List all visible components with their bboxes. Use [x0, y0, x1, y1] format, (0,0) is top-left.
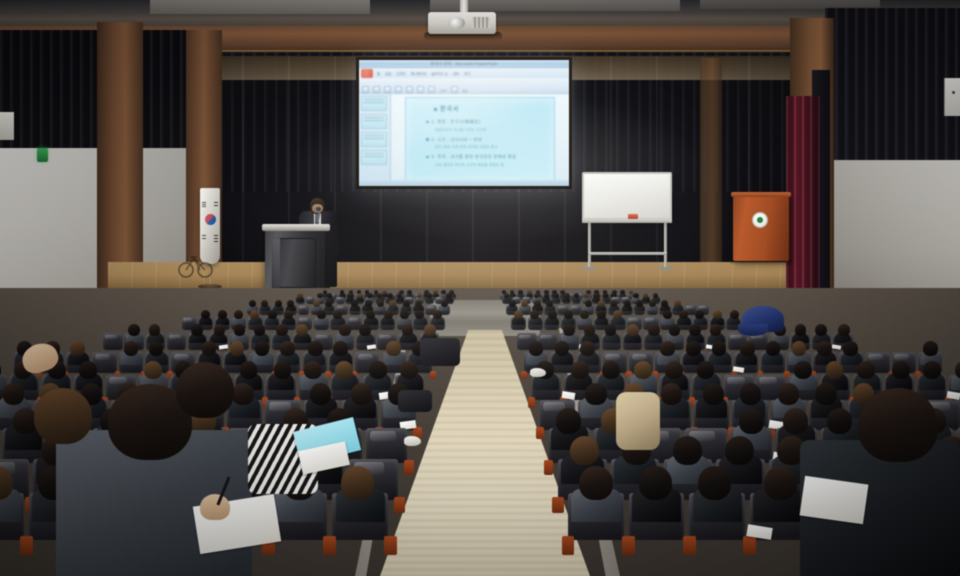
slide-thumbnail[interactable]: [361, 132, 387, 147]
audience-member-head: [584, 324, 596, 336]
seat-back-gloss: [727, 377, 745, 385]
audience-member-head: [612, 290, 617, 295]
slide-bullet-main: 3. 목적 : 과거를 통한 한국인의 정체성 확립: [426, 154, 546, 160]
audience-member-head: [202, 341, 217, 356]
audience-member-head: [287, 300, 294, 307]
seat-back-gloss: [299, 306, 306, 309]
audience-member-head: [339, 324, 351, 336]
audience-member-head: [384, 310, 393, 319]
ribbon-tab-animations[interactable]: 애니메이션: [411, 71, 427, 76]
audience-member-head: [555, 341, 570, 356]
seat-back-gloss: [427, 306, 434, 309]
seat-back-gloss: [337, 306, 344, 309]
audience-member-head: [377, 293, 383, 299]
audience-member-head: [698, 466, 732, 500]
powerpoint-statusbar: [359, 180, 569, 186]
audience-member-head: [923, 361, 941, 379]
audience-member-head: [792, 341, 807, 356]
seat-back-gloss: [436, 297, 442, 299]
audience-member-head: [598, 300, 605, 307]
audience-member-head: [636, 300, 643, 307]
seat-armrest: [20, 536, 33, 555]
audience-member-head: [400, 310, 409, 319]
audience-member-head: [79, 361, 97, 379]
audience-member-head: [514, 310, 523, 319]
audience-member-head: [407, 290, 412, 295]
seat-back-gloss: [519, 335, 531, 340]
audience-member-head: [556, 408, 581, 434]
seat-armrest: [528, 397, 535, 407]
audience-member-head: [389, 300, 396, 307]
audience-member-head: [333, 310, 342, 319]
new-slide-icon[interactable]: [373, 86, 380, 93]
audience-member-head: [817, 341, 832, 356]
audience-member-head: [740, 383, 761, 405]
audience-member-head: [313, 300, 320, 307]
audience-member-head: [892, 361, 910, 379]
seat-armrest: [521, 371, 527, 379]
audience-member-head: [544, 293, 550, 299]
seat-back-gloss: [571, 306, 578, 309]
audience-member-head: [529, 341, 544, 356]
audience-member-head: [176, 362, 234, 418]
audience-member-head: [341, 466, 375, 500]
projector-vent-icon: [472, 17, 490, 28]
font-icon[interactable]: [384, 86, 391, 93]
seat-back-gloss: [349, 318, 358, 322]
audience-member-head: [661, 383, 682, 405]
audience-member-head: [240, 361, 258, 379]
audience-member-head: [387, 293, 393, 299]
seat-back-gloss: [169, 335, 181, 340]
audience-member-head: [826, 361, 844, 379]
backpack: [398, 390, 432, 412]
audience-member-head: [689, 324, 701, 336]
audience-member-beige-coat: [616, 392, 660, 450]
ribbon-group-drawing: 그리기: [439, 89, 447, 93]
audience-member-head: [255, 341, 270, 356]
powerpoint-titlebar: 한국사 강의 - Microsoft PowerPoint: [359, 60, 569, 68]
seat-back-gloss: [730, 335, 742, 340]
slide-bullet-main: 1. 명칭 : 한국사(韓國史): [426, 119, 546, 125]
audience-member-head: [149, 324, 161, 336]
podium-side-highlight: [272, 238, 280, 288]
seat-armrest: [562, 536, 575, 555]
audience-member-head: [317, 293, 323, 299]
projected-image: 한국사 강의 - Microsoft PowerPoint 홈 삽입 디자인 애…: [359, 60, 569, 186]
audience-member-head: [297, 293, 303, 299]
seat-back-gloss: [558, 306, 565, 309]
audience-member-head: [369, 361, 387, 379]
audience-member-head: [34, 388, 92, 444]
audience-member-head: [234, 324, 246, 336]
audience-member-head: [597, 310, 606, 319]
seat-back-gloss: [95, 354, 110, 360]
wall-speaker-box: [944, 78, 960, 116]
audience-member-head: [564, 293, 570, 299]
audience-member-head: [583, 293, 589, 299]
seat-armrest: [404, 460, 414, 475]
audience-member-head: [697, 361, 715, 379]
audience-member-head: [397, 293, 403, 299]
audience-member-head: [254, 324, 266, 336]
audience-member-head: [634, 361, 652, 379]
audience-member-head: [521, 300, 528, 307]
audience-member-head: [843, 341, 858, 356]
audience-member-head: [367, 293, 373, 299]
audience-member-head: [249, 300, 256, 307]
audience-member-head: [571, 361, 589, 379]
seat-armrest: [323, 536, 336, 555]
audience-member-head: [858, 388, 938, 462]
shoe: [404, 436, 421, 446]
slide-bullet-sub: 정치·경제·사회·문화 영역을 포함한 통사: [435, 144, 546, 149]
audience-member-head: [402, 324, 414, 336]
slide-canvas: 한국사 1. 명칭 : 한국사(韓國史) 대한민국의 역사를 다루는 교과목 2…: [391, 94, 569, 186]
backpack: [420, 338, 460, 366]
audience-member-head: [261, 300, 268, 307]
slide-bullet-main: 2. 시기 : 선사시대 ~ 현대: [426, 137, 546, 143]
audience-member-head: [441, 300, 448, 307]
audience-member-head: [778, 383, 799, 405]
whiteboard-foot: [582, 267, 596, 270]
audience-member-head: [725, 436, 754, 466]
audience-member-head: [624, 300, 631, 307]
seat-back-gloss: [183, 318, 192, 322]
slide-thumbnail-pane[interactable]: [359, 94, 391, 186]
audience-member-head: [191, 324, 203, 336]
audience-member-head: [602, 361, 620, 379]
emergency-exit-sign-icon: [37, 148, 48, 162]
ribbon-tab-design[interactable]: 디자인: [396, 71, 405, 76]
audience-member-head: [3, 383, 24, 405]
seat-back-gloss: [174, 354, 189, 360]
audience-member-head: [546, 300, 553, 307]
audience-member-head: [553, 293, 559, 299]
seat-back-gloss: [894, 354, 909, 360]
audience-member-head: [335, 361, 353, 379]
audience-member-head: [214, 324, 226, 336]
audience-member-head: [838, 324, 850, 336]
audience-member-head: [580, 341, 595, 356]
audience-member-head: [446, 293, 452, 299]
projection-screen: 한국사 강의 - Microsoft PowerPoint 홈 삽입 디자인 애…: [356, 57, 572, 189]
audience-member-head: [144, 361, 162, 379]
audience-member-head: [424, 324, 436, 336]
whiteboard-leg: [588, 223, 591, 269]
seat-back-gloss: [307, 297, 313, 299]
bicycle-icon: [178, 248, 214, 280]
slide-bullet: 1. 명칭 : 한국사(韓國史) 대한민국의 역사를 다루는 교과목: [426, 119, 546, 132]
slide-thumbnail[interactable]: [361, 150, 387, 165]
audience-member-head: [359, 324, 371, 336]
audience-member-head: [308, 341, 323, 356]
ribbon-tab-review[interactable]: 검토: [453, 71, 459, 76]
whiteboard-crossbar: [588, 252, 667, 255]
audience-member-head: [403, 300, 410, 307]
whiteboard-eraser: [628, 214, 638, 219]
bold-icon[interactable]: [395, 86, 402, 93]
audience-member-head: [857, 361, 875, 379]
seat-back-gloss: [699, 306, 706, 309]
right-curtain-pleats: [825, 8, 960, 166]
ribbon-tab-view[interactable]: 보기: [464, 71, 470, 76]
ribbon-group-editing: 편집: [462, 89, 468, 93]
handout: [832, 344, 841, 350]
audience-member-head: [764, 466, 798, 500]
audience-member-head: [730, 310, 739, 319]
audience-member-head: [661, 300, 668, 307]
audience-member-head: [509, 300, 516, 307]
audience-member-head: [674, 300, 681, 307]
audience-member-head: [827, 408, 852, 434]
seat-armrest: [536, 427, 544, 439]
audience-member-head: [794, 361, 812, 379]
audience-member-head: [639, 466, 673, 500]
audience-member-head: [686, 341, 701, 356]
audience-member-head: [740, 341, 755, 356]
seat-back-gloss: [686, 306, 693, 309]
audience-member-head: [274, 361, 292, 379]
seat-back-gloss: [759, 377, 777, 385]
seat-back-gloss: [605, 354, 620, 360]
audience-member-head: [627, 324, 639, 336]
wooden-lectern: [733, 195, 789, 261]
hand: [200, 494, 230, 520]
bullets-icon[interactable]: [406, 86, 413, 93]
audience-member-head: [268, 310, 277, 319]
shapes-icon[interactable]: [428, 86, 435, 93]
audience-member-head: [534, 300, 541, 307]
audience-member-head: [673, 436, 702, 466]
audience-member-head: [386, 341, 401, 356]
audience-member-head: [712, 341, 727, 356]
seat-back-gloss: [336, 297, 342, 299]
audience-member-head: [128, 324, 140, 336]
audience-member-head: [653, 293, 659, 299]
podium-top-surface: [262, 224, 330, 231]
audience-member-head: [317, 310, 326, 319]
seat-armrest: [384, 536, 397, 555]
seat-back-gloss: [645, 318, 654, 322]
audience-member-head: [585, 300, 592, 307]
audience-member-head: [585, 383, 606, 405]
seat-armrest: [544, 460, 554, 475]
audience-member-head: [400, 361, 418, 379]
office-button[interactable]: [361, 69, 373, 78]
audience-member-head: [579, 466, 613, 500]
slide-bullet-sub: 사료 해석과 역사적 사고력 배양을 목표로 함: [435, 162, 546, 167]
current-slide: 한국사 1. 명칭 : 한국사(韓國史) 대한민국의 역사를 다루는 교과목 2…: [405, 97, 555, 182]
audience-member-head: [613, 310, 622, 319]
wall-switch-panel: [0, 112, 14, 140]
seat-back-gloss: [540, 335, 552, 340]
seat-back-gloss: [628, 318, 637, 322]
seat-armrest: [743, 536, 756, 555]
handout: [732, 366, 743, 373]
seat-back-gloss: [299, 318, 308, 322]
cap-brim: [738, 324, 768, 336]
ribbon-tab-insert[interactable]: 삽입: [385, 71, 391, 76]
wall-speaker-screw: [952, 91, 955, 94]
projector-lens-icon: [448, 17, 465, 29]
audience-member-head: [649, 300, 656, 307]
seat-armrest: [394, 497, 405, 514]
mobile-whiteboard: [582, 172, 672, 220]
audience-member-head: [665, 361, 683, 379]
audience-member-head: [815, 324, 827, 336]
whiteboard-leg: [664, 223, 667, 269]
audience-member-head: [610, 300, 617, 307]
wood-pillar-right-inner: [700, 58, 722, 286]
seat-back-gloss: [358, 354, 373, 360]
audience-member-head: [296, 324, 308, 336]
seat-armrest: [552, 497, 563, 514]
slide-bullet: 2. 시기 : 선사시대 ~ 현대 정치·경제·사회·문화 영역을 포함한 통사: [426, 137, 546, 150]
ceiling-tile: [150, 0, 370, 14]
lectern-top-surface: [731, 192, 791, 197]
audience-member-head: [570, 436, 599, 466]
slide-bullet: 3. 목적 : 과거를 통한 한국인의 정체성 확립 사료 해석과 역사적 사고…: [426, 154, 546, 167]
lectern-crest-center-icon: [757, 217, 763, 223]
audience-member-head: [201, 310, 210, 319]
whiteboard-marker-tray: [582, 219, 672, 223]
seat-back-gloss: [105, 335, 117, 340]
find-icon[interactable]: [451, 86, 458, 93]
audience-member-head: [710, 324, 722, 336]
powerpoint-window-title: 한국사 강의 - Microsoft PowerPoint: [431, 60, 498, 68]
audience-member-head: [230, 341, 245, 356]
audience-member-head: [593, 293, 599, 299]
audience-member-head: [504, 293, 510, 299]
paste-icon[interactable]: [362, 86, 369, 93]
audience-member-head: [347, 293, 353, 299]
audience-member-head: [669, 324, 681, 336]
audience-member-head: [815, 383, 836, 405]
audience-member-head: [70, 341, 85, 356]
ribbon-tab-strip[interactable]: 홈 삽입 디자인 애니메이션 슬라이드 쇼 검토 보기: [374, 69, 569, 78]
audience-member-head: [124, 341, 139, 356]
audience-member-head: [417, 293, 423, 299]
audience-member-head: [304, 361, 322, 379]
ribbon-tab-home[interactable]: 홈: [377, 71, 380, 76]
seat-back-gloss: [868, 354, 883, 360]
audience-member-head: [351, 383, 372, 405]
shoe: [530, 368, 546, 377]
audience-member-head: [377, 300, 384, 307]
audience-member-head: [648, 324, 660, 336]
seat-back-gloss: [632, 354, 647, 360]
audience-member-head: [426, 293, 432, 299]
microphone-icon: [316, 207, 321, 211]
seat-back-gloss: [370, 431, 396, 442]
seat-armrest: [622, 536, 635, 555]
audience-member-head: [783, 408, 808, 434]
audience-member-head: [605, 324, 617, 336]
audience-member-head: [923, 341, 938, 356]
audience-member-head: [574, 293, 580, 299]
audience-member-head: [232, 383, 253, 405]
audience-member-head: [351, 300, 358, 307]
audience-member-head: [563, 324, 575, 336]
seat-back-gloss: [379, 335, 391, 340]
stage-side-curtain-pleats: [786, 96, 820, 296]
audience-member-head: [633, 293, 639, 299]
audience-member-head: [280, 341, 295, 356]
audience-member-head: [333, 341, 348, 356]
audience-member-head: [365, 300, 372, 307]
audience-member-head: [310, 383, 331, 405]
audience-member-head: [149, 341, 164, 356]
audience-member-head: [415, 300, 422, 307]
audience-member-head: [275, 300, 282, 307]
auditorium-photo: 한국사 강의 - Microsoft PowerPoint 홈 삽입 디자인 애…: [0, 0, 960, 576]
seat-back-gloss: [316, 335, 328, 340]
whiteboard-foot: [659, 267, 673, 270]
slide-thumbnail[interactable]: [361, 96, 387, 111]
seat-armrest: [683, 536, 696, 555]
handout: [219, 344, 228, 349]
align-icon[interactable]: [417, 86, 424, 93]
audience-member-head: [703, 383, 724, 405]
audience-member-head: [518, 290, 523, 295]
handout: [367, 344, 376, 349]
audience-member-head: [766, 341, 781, 356]
audience-member-head: [660, 341, 675, 356]
audience-member-head: [795, 324, 807, 336]
audience-member-head: [276, 324, 288, 336]
ribbon-command-icons[interactable]: 그리기 편집: [362, 79, 569, 93]
audience-member-head: [358, 293, 364, 299]
ribbon-tab-slideshow[interactable]: 슬라이드 쇼: [431, 71, 448, 76]
seat-armrest: [430, 371, 436, 379]
audience-member-head: [325, 300, 332, 307]
audience-member-head: [284, 310, 293, 319]
slide-bullet-sub: 대한민국의 역사를 다루는 교과목: [435, 127, 546, 132]
audience-member-head: [739, 408, 764, 434]
slide-thumbnail[interactable]: [361, 114, 387, 129]
left-curtain-pleats: [0, 30, 188, 152]
audience-member-head: [382, 290, 387, 295]
slide-title: 한국사: [434, 104, 546, 113]
